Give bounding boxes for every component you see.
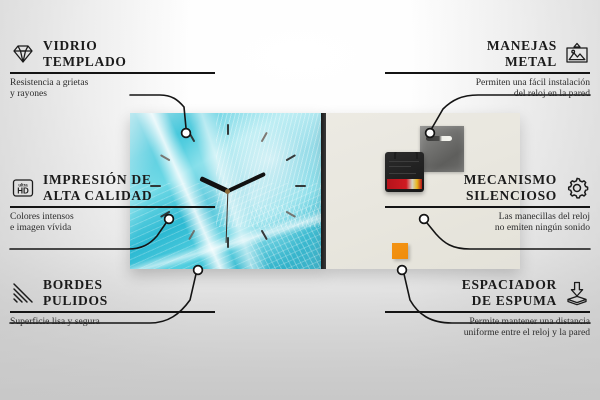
clock-tick [227,124,229,135]
feature-vidrio-templado: VIDRIO TEMPLADO Resistencia a grietas y … [10,38,215,100]
clock-center-cap [225,189,230,194]
feature-title: ESPACIADOR DE ESPUMA [462,277,557,308]
clock-tick [227,237,229,248]
feature-espaciador-de-espuma: ESPACIADOR DE ESPUMA Permite mantener un… [385,277,590,339]
feature-description: Colores intensos e imagen vívida [10,211,215,234]
feature-divider [385,311,590,313]
clock-tick [295,185,306,187]
gear-icon [564,175,590,201]
feature-title: MANEJAS METAL [487,38,557,69]
polished-edges-icon [10,280,36,306]
clock-tick [260,230,267,241]
feature-header: ESPACIADOR DE ESPUMA [385,277,590,308]
hanger-keyhole-slot [426,136,452,141]
clock-tick [285,154,296,161]
feature-title: IMPRESIÓN DE ALTA CALIDAD [43,172,152,203]
clock-tick [260,132,267,143]
orange-foam-spacer [392,243,408,259]
feature-header: VIDRIO TEMPLADO [10,38,215,69]
clock-tick [285,211,296,218]
foam-spacer-arrow-icon [564,280,590,306]
clock-minute-hand [227,172,266,193]
mechanism-detail-line [389,166,411,167]
feature-header: ultra HD IMPRESIÓN DE ALTA CALIDAD [10,172,215,203]
feature-divider [10,72,215,74]
feature-header: BORDES PULIDOS [10,277,215,308]
metal-hanger-plate [420,126,464,172]
picture-frame-hook-icon [564,41,590,67]
feature-bordes-pulidos: BORDES PULIDOS Superficie lisa y segura [10,277,215,327]
infographic-canvas: VIDRIO TEMPLADO Resistencia a grietas y … [0,0,600,400]
feature-header: MANEJAS METAL [385,38,590,69]
feature-divider [385,72,590,74]
panel-edge-seam [321,113,326,269]
mechanism-hanging-loop [394,152,418,159]
mechanism-detail-line [389,161,419,162]
feature-description: Las manecillas del reloj no emiten ningú… [385,211,590,234]
feature-divider [10,206,215,208]
diamond-icon [10,41,36,67]
feature-description: Permite mantener una distancia uniforme … [385,316,590,339]
clock-tick [159,154,170,161]
feature-impresion-alta-calidad: ultra HD IMPRESIÓN DE ALTA CALIDAD Color… [10,172,215,234]
feature-description: Superficie lisa y segura [10,316,215,328]
feature-title: MECANISMO SILENCIOSO [464,172,557,203]
feature-description: Resistencia a grietas y rayones [10,77,215,100]
feature-description: Permiten una fácil instalación del reloj… [385,77,590,100]
feature-title: BORDES PULIDOS [43,277,108,308]
clock-tick [188,132,195,143]
svg-text:HD: HD [17,186,29,195]
feature-manejas-metal: MANEJAS METAL Permiten una fácil instala… [385,38,590,100]
ultra-hd-icon: ultra HD [10,175,36,201]
clock-second-hand [225,191,228,243]
feature-header: MECANISMO SILENCIOSO [385,172,590,203]
feature-title: VIDRIO TEMPLADO [43,38,127,69]
feature-divider [385,206,590,208]
feature-mecanismo-silencioso: MECANISMO SILENCIOSO Las manecillas del … [385,172,590,234]
feature-divider [10,311,215,313]
